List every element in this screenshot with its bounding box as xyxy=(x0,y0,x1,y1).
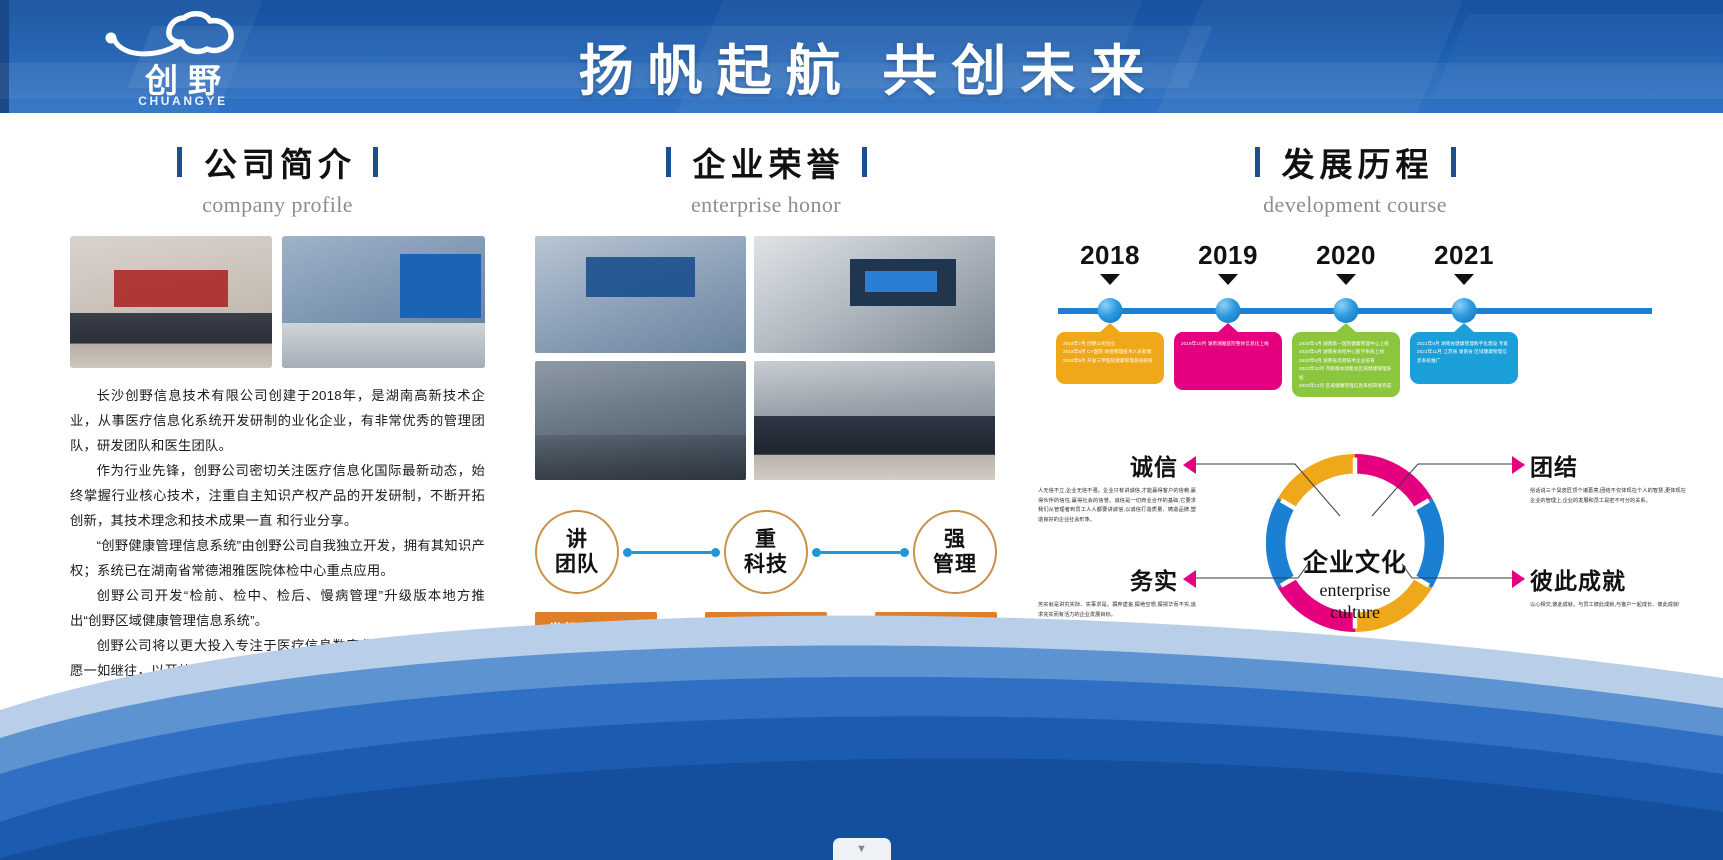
heading-tick-left xyxy=(666,147,671,177)
honor-heading: 企业荣誉 enterprise honor xyxy=(535,138,997,218)
culture-item-text: 俗话说三个臭皮匠顶个诸葛亮,团结不仅体现在个人的智慧,更体现在企业的管理上,企业… xyxy=(1512,487,1686,506)
caret-down-icon xyxy=(1100,274,1120,285)
connector-bar xyxy=(632,551,711,554)
timeline-dot-icon xyxy=(1216,298,1241,323)
timeline-event: 2018年9月 开发三甲医院健康管理系统研发 xyxy=(1063,357,1157,365)
timeline: 2018 2018年7月 创野公司创立 2018年8月 CY医院 体检管理技术人… xyxy=(1050,240,1660,420)
timeline-dot-icon xyxy=(1334,298,1359,323)
timeline-card-2020: 2020年4月 湖南第一医院健康管理中心上线 2020年5月 湖南省体检中心医学… xyxy=(1292,332,1400,397)
timeline-card-2018: 2018年7月 创野公司创立 2018年8月 CY医院 体检管理技术人员就绪 2… xyxy=(1056,332,1164,384)
course-heading: 发展历程 development course xyxy=(1050,138,1660,218)
award-group-photo xyxy=(754,361,995,480)
arrow-left-icon xyxy=(1183,456,1196,474)
bottom-tab-handle[interactable]: ▼ xyxy=(833,838,891,860)
timeline-item-2019: 2019 2019年10月 湖南湘雅医院整体信息化上线 xyxy=(1168,240,1288,285)
profile-photo-row xyxy=(70,236,485,368)
open-office-photo xyxy=(535,361,746,480)
arrow-right-icon xyxy=(1512,456,1525,474)
honor-title-cn: 企业荣誉 xyxy=(688,138,845,186)
timeline-event: 2021年8月 湖南省健康管理数字化建设 专家 xyxy=(1417,340,1511,348)
caret-down-icon xyxy=(1218,274,1238,285)
page-title: 扬帆起航 共创未来 xyxy=(0,26,1723,106)
caret-down-icon xyxy=(1336,274,1356,285)
timeline-year-2019: 2019 xyxy=(1168,240,1288,271)
heading-tick-right xyxy=(373,147,378,177)
flow-connector-1 xyxy=(623,548,720,557)
timeline-event: 2020年4月 湖南第一医院健康管理中心上线 xyxy=(1299,340,1393,348)
presentation-meeting-photo xyxy=(754,236,995,353)
flow-node-team-line1: 讲 xyxy=(566,527,588,552)
profile-paragraph-2: 作为行业先锋，创野公司密切关注医疗信息化国际最新动态，始终掌握行业核心技术，注重… xyxy=(70,458,485,533)
timeline-item-2018: 2018 2018年7月 创野公司创立 2018年8月 CY医院 体检管理技术人… xyxy=(1050,240,1170,285)
timeline-event: 2020年12月 区域健康管理信息系统研发完成 xyxy=(1299,382,1393,390)
culture-item-integrity: 诚信 人无信不立,企业无信不强。企业只有讲诚信,才能赢得客户的信赖,赢得伙伴的信… xyxy=(1022,448,1196,525)
timeline-event: 2020年6月 湖南省高新技术企业培育 xyxy=(1299,357,1393,365)
timeline-dot-icon xyxy=(1098,298,1123,323)
timeline-year-2018: 2018 xyxy=(1050,240,1170,271)
flow-node-management-line1: 强 xyxy=(944,527,966,552)
connector-bar xyxy=(821,551,900,554)
team-group-photo xyxy=(70,236,272,368)
profile-paragraph-1: 长沙创野信息技术有限公司创建于2018年，是湖南高新技术企业，从事医疗信息化系统… xyxy=(70,383,485,458)
timeline-year-2021: 2021 xyxy=(1404,240,1524,271)
course-title-cn: 发展历程 xyxy=(1277,138,1434,186)
heading-tick-left xyxy=(177,147,182,177)
honor-photo-grid xyxy=(535,236,997,480)
culture-item-title: 团结 xyxy=(1530,448,1578,482)
heading-tick-right xyxy=(1451,147,1456,177)
timeline-card-2021: 2021年8月 湖南省健康管理数字化建设 专家 2021年11月 江苏省 湖南省… xyxy=(1410,332,1518,384)
timeline-event: 2019年10月 湖南湘雅医院整体信息化上线 xyxy=(1181,340,1275,348)
connector-dot-icon xyxy=(623,548,632,557)
flow-connector-2 xyxy=(812,548,909,557)
profile-title-en: company profile xyxy=(70,192,485,218)
heading-tick-right xyxy=(862,147,867,177)
honor-title-en: enterprise honor xyxy=(535,192,997,218)
culture-item-text: 人无信不立,企业无信不强。企业只有讲诚信,才能赢得客户的信赖,赢得伙伴的信任,赢… xyxy=(1022,487,1196,525)
timeline-event: 2018年8月 CY医院 体检管理技术人员就绪 xyxy=(1063,348,1157,356)
chevron-down-icon: ▼ xyxy=(856,843,867,855)
timeline-event: 2018年7月 创野公司创立 xyxy=(1063,340,1157,348)
culture-item-title: 诚信 xyxy=(1130,448,1178,482)
timeline-event: 2021年11月 江苏省 湖南省 区域健康管理信息系统推广 xyxy=(1417,348,1511,365)
profile-title-cn: 公司简介 xyxy=(199,138,356,186)
office-interior-photo xyxy=(535,236,746,353)
timeline-item-2020: 2020 2020年4月 湖南第一医院健康管理中心上线 2020年5月 湖南省体… xyxy=(1286,240,1406,285)
office-reception-photo xyxy=(282,236,485,368)
timeline-item-2021: 2021 2021年8月 湖南省健康管理数字化建设 专家 2021年11月 江苏… xyxy=(1404,240,1524,285)
culture-item-unity: 团结 俗话说三个臭皮匠顶个诸葛亮,团结不仅体现在个人的智慧,更体现在企业的管理上… xyxy=(1512,448,1686,506)
timeline-event: 2020年5月 湖南省体检中心医学系统上线 xyxy=(1299,348,1393,356)
connector-dot-icon xyxy=(900,548,909,557)
footer-wave-decoration: ▼ xyxy=(0,560,1723,860)
timeline-year-2020: 2020 xyxy=(1286,240,1406,271)
connector-dot-icon xyxy=(711,548,720,557)
timeline-card-2019: 2019年10月 湖南湘雅医院整体信息化上线 xyxy=(1174,332,1282,390)
timeline-dot-icon xyxy=(1452,298,1477,323)
timeline-event: 2020年10月 市民版本智能化区域健康管理系统 xyxy=(1299,365,1393,382)
connector-dot-icon xyxy=(812,548,821,557)
page-header: 创野 CHUANGYE 扬帆起航 共创未来 xyxy=(0,0,1723,113)
profile-heading: 公司简介 company profile xyxy=(70,138,485,218)
heading-tick-left xyxy=(1255,147,1260,177)
flow-node-tech-line1: 重 xyxy=(755,527,777,552)
course-title-en: development course xyxy=(1050,192,1660,218)
caret-down-icon xyxy=(1454,274,1474,285)
